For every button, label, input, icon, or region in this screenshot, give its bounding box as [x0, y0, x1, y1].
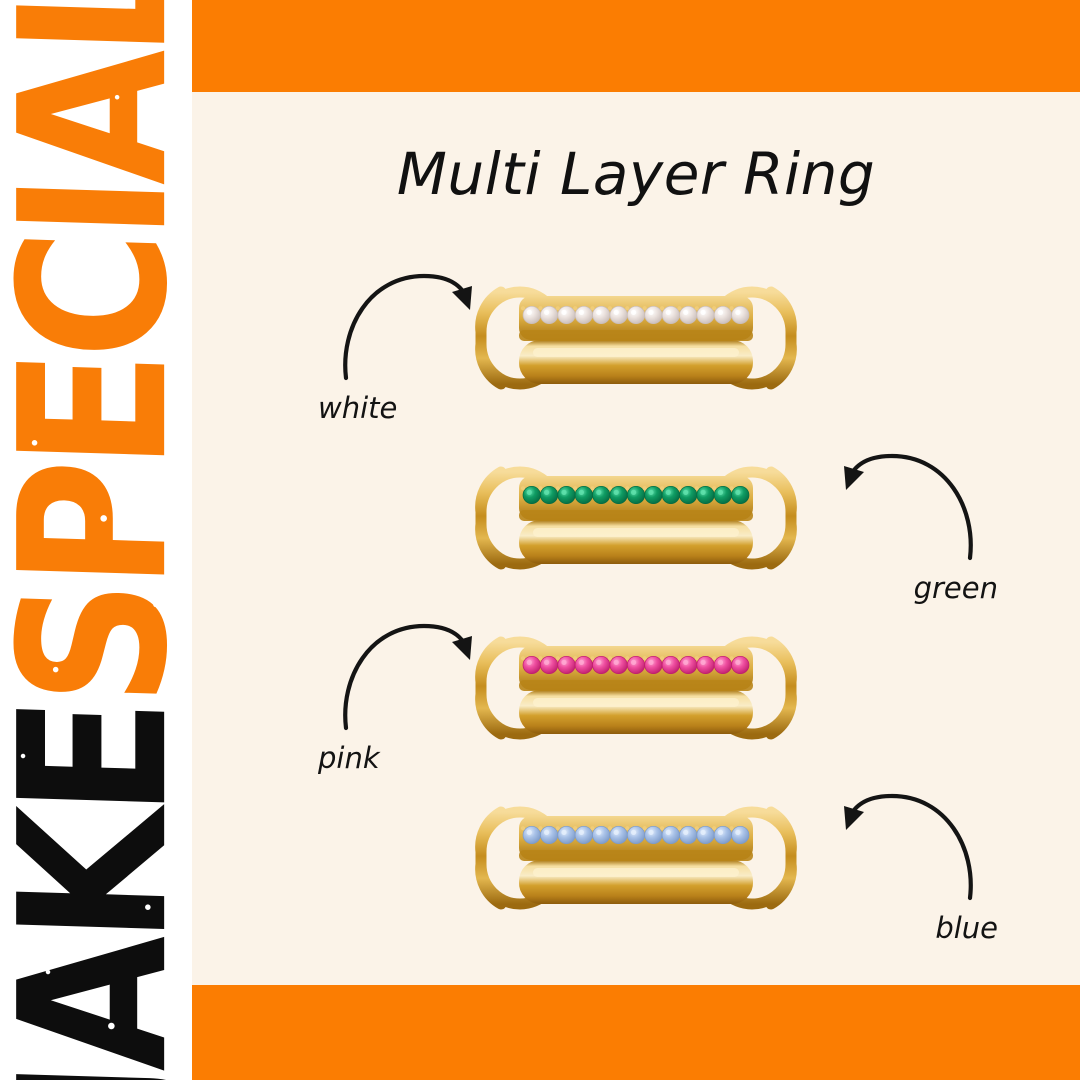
- ring-illustration: [471, 788, 801, 928]
- ring-variant-row[interactable]: blue: [192, 780, 1080, 965]
- top-orange-band: [192, 0, 1080, 92]
- curved-arrow-icon: [794, 776, 1004, 906]
- curved-arrow-icon: [312, 606, 522, 736]
- ring-plain-band: [519, 520, 753, 564]
- ring-plain-band: [519, 690, 753, 734]
- variant-callout-pink: pink: [312, 606, 522, 781]
- variant-callout-white: white: [312, 256, 522, 431]
- curved-arrow-icon: [794, 436, 1004, 566]
- ring-product-image-blue[interactable]: [471, 788, 801, 928]
- bottom-orange-band: [192, 985, 1080, 1080]
- variant-label: white: [318, 391, 397, 425]
- variant-label: green: [914, 571, 998, 605]
- ring-variant-row[interactable]: pink: [192, 610, 1080, 795]
- ring-product-image-green[interactable]: [471, 448, 801, 588]
- ring-variant-row[interactable]: white: [192, 260, 1080, 445]
- curved-arrow-icon: [312, 256, 522, 386]
- content-panel: Multi Layer Ring whitegreenpinkblue: [192, 92, 1080, 985]
- variant-callout-green: green: [794, 436, 1004, 611]
- ring-plain-band: [519, 860, 753, 904]
- page-title: Multi Layer Ring: [192, 140, 1080, 208]
- ring-illustration: [471, 448, 801, 588]
- brand-wordmark-jake: JAKE: [9, 703, 184, 1080]
- variant-label: pink: [318, 741, 380, 775]
- brand-wordmark-special: SPECIAL: [9, 0, 184, 708]
- ring-plain-band: [519, 340, 753, 384]
- poster-canvas: JAKESPECIAL Multi Layer Ring whitegreenp…: [0, 0, 1080, 1080]
- variant-label: blue: [935, 911, 998, 945]
- brand-sidebar: JAKESPECIAL: [0, 0, 192, 1080]
- brand-wordmark: JAKESPECIAL: [21, 0, 172, 1080]
- variant-callout-blue: blue: [794, 776, 1004, 951]
- ring-variant-row[interactable]: green: [192, 440, 1080, 625]
